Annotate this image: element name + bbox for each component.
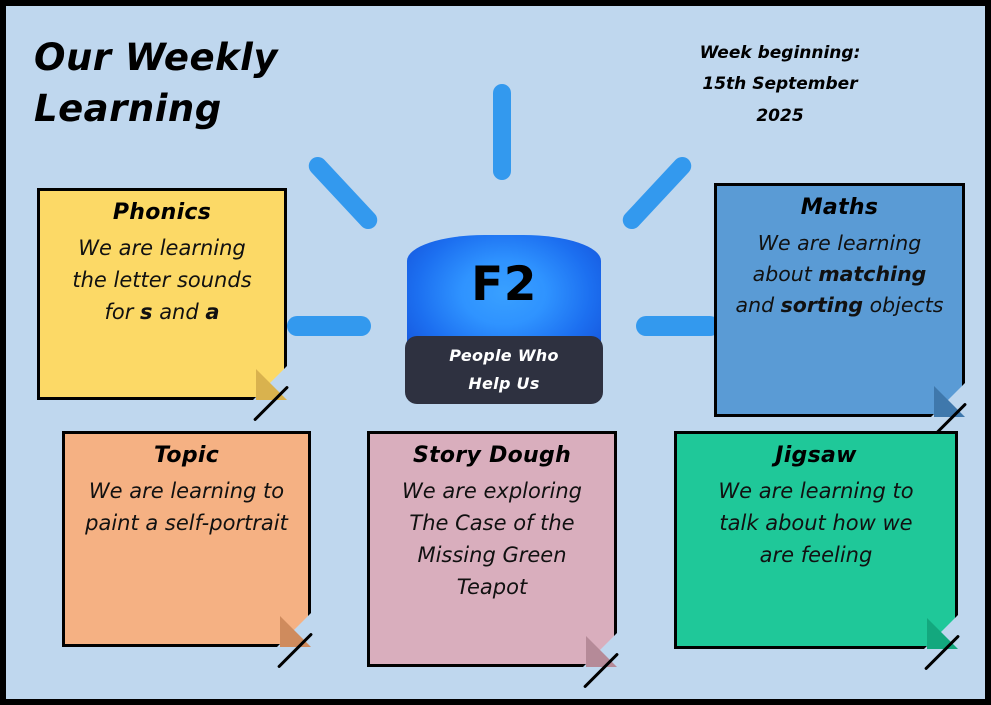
connector-bar-left <box>287 316 371 336</box>
theme-line-2: Help Us <box>468 370 539 398</box>
ray-up-left-icon <box>305 153 381 233</box>
ray-up-icon <box>493 84 511 180</box>
card-text-jigsaw: We are learning to talk about how we are… <box>688 476 944 572</box>
maths-text-post: objects <box>863 293 943 317</box>
card-text-story-dough: We are exploring The Case of the Missing… <box>381 476 603 604</box>
card-story-dough: Story Dough We are exploring The Case of… <box>367 431 617 667</box>
ray-up-right-icon <box>619 153 695 233</box>
phonics-text-mid: and <box>153 300 206 324</box>
year-group-label: F2 <box>407 257 601 312</box>
card-title-story-dough: Story Dough <box>381 443 603 468</box>
card-text-phonics: We are learning the letter sounds for s … <box>51 233 273 329</box>
phonics-bold-1: s <box>140 300 153 324</box>
folded-corner-icon <box>277 613 311 647</box>
card-maths: Maths We are learning about matching and… <box>714 183 965 417</box>
theme-line-1: People Who <box>449 342 559 370</box>
maths-bold-2: sorting <box>781 293 864 317</box>
phonics-bold-2: a <box>205 300 219 324</box>
card-title-maths: Maths <box>728 195 951 220</box>
weekly-learning-poster: Our Weekly Learning Week beginning: 15th… <box>0 0 991 705</box>
card-title-topic: Topic <box>76 443 297 468</box>
card-text-maths: We are learning about matching and sorti… <box>728 228 951 321</box>
maths-bold-1: matching <box>818 262 926 286</box>
card-title-phonics: Phonics <box>51 200 273 225</box>
folded-corner-icon <box>931 383 965 417</box>
card-jigsaw: Jigsaw We are learning to talk about how… <box>674 431 958 649</box>
week-beginning-label: Week beginning: 15th September 2025 <box>635 38 925 132</box>
folded-corner-icon <box>924 615 958 649</box>
card-title-jigsaw: Jigsaw <box>688 443 944 468</box>
theme-badge: People Who Help Us <box>405 336 603 404</box>
connector-bar-right <box>636 316 720 336</box>
card-phonics: Phonics We are learning the letter sound… <box>37 188 287 400</box>
folded-corner-icon <box>253 366 287 400</box>
centre-hub: F2 <box>407 235 601 351</box>
card-topic: Topic We are learning to paint a self-po… <box>62 431 311 647</box>
folded-corner-icon <box>583 633 617 667</box>
page-title: Our Weekly Learning <box>34 32 464 134</box>
maths-text-mid: and <box>736 293 781 317</box>
card-text-topic: We are learning to paint a self-portrait <box>76 476 297 540</box>
